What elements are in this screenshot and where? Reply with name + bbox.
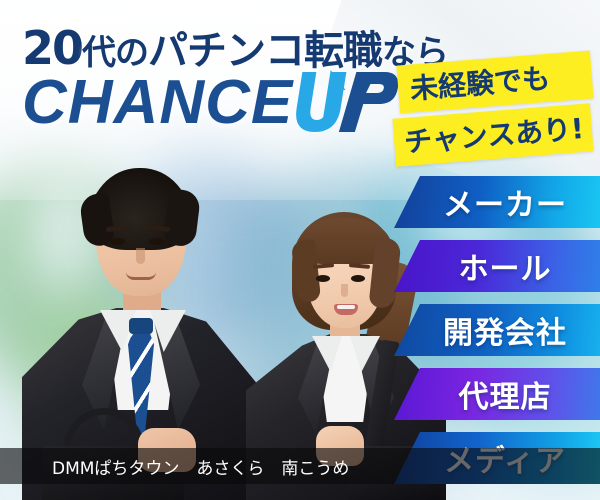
promo-badge-1-label: 未経験でも: [409, 62, 551, 106]
male-eye-left: [110, 238, 125, 245]
credit-text: DMMぱちタウン あさくら 南こうめ: [0, 454, 349, 479]
female-eye-right: [351, 275, 365, 282]
male-mouth: [126, 272, 156, 280]
promo-badge-1: 未経験でも: [396, 50, 593, 113]
promo-badge-2-label: チャンスあり!: [403, 112, 585, 159]
female-nose: [341, 284, 348, 297]
female-eye-left: [316, 275, 330, 282]
category-button-hall[interactable]: ホール: [394, 240, 600, 292]
male-necktie-knot: [129, 318, 153, 334]
male-nose: [136, 248, 145, 264]
category-label: 開発会社: [427, 308, 567, 352]
credit-band: DMMぱちタウン あさくら 南こうめ: [0, 448, 600, 484]
advertisement-banner[interactable]: 20代のパチンコ転職なら CHANCE 未経験でも チャンスあり! メーカー ホ…: [0, 0, 600, 500]
category-label: ホール: [443, 244, 552, 288]
category-button-agency[interactable]: 代理店: [394, 368, 600, 420]
male-eye-right: [149, 238, 164, 245]
people-photo-group: [0, 140, 420, 500]
category-label: メーカー: [427, 180, 567, 224]
promo-badge-group: 未経験でも チャンスあり!: [398, 58, 592, 159]
female-mouth: [334, 304, 358, 315]
up-letter-p: [339, 72, 401, 132]
headline-line-2: CHANCE: [22, 72, 293, 134]
female-bangs: [298, 218, 392, 264]
category-button-maker[interactable]: メーカー: [394, 176, 600, 228]
male-hair: [88, 168, 192, 250]
headline-age-number: 20: [22, 21, 82, 75]
up-logo-svg: [295, 68, 405, 140]
headline-age-suffix: 代の: [82, 33, 148, 73]
category-label: 代理店: [443, 372, 552, 416]
chance-up-wordmark: [295, 68, 405, 140]
category-button-development-company[interactable]: 開発会社: [394, 304, 600, 356]
promo-badge-2: チャンスあり!: [392, 103, 593, 166]
